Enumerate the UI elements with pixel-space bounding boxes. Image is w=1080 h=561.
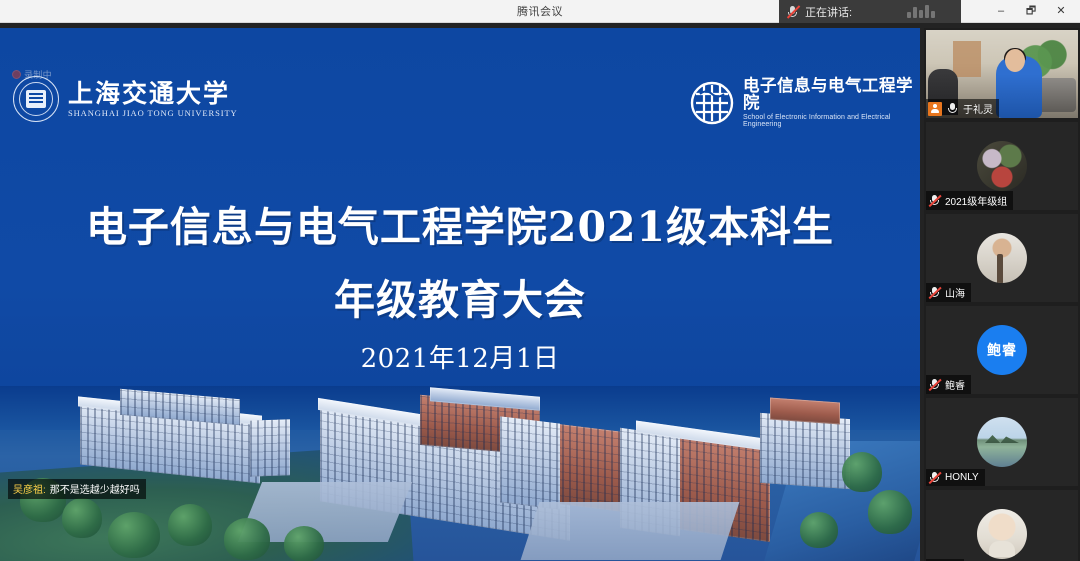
presentation-slide: 录制中 上海交通大学 SHANGHAI JIAO TONG UNIVERSITY [0, 28, 920, 561]
participant-tile[interactable]: 2021级年级组 [926, 122, 1078, 210]
window-controls: ‒ 🗗 ✕ [986, 0, 1076, 23]
live-caption: 吴彦祖: 那不是选越少越好吗 [8, 479, 146, 499]
participant-tile[interactable]: 于礼灵 [926, 30, 1078, 118]
participant-filmstrip[interactable]: 于礼灵 2021级年级组 [924, 28, 1080, 561]
audio-wave-icon [907, 5, 935, 18]
speaking-label: 正在讲话: [805, 4, 852, 20]
avatar [977, 141, 1027, 191]
participant-avatar-area [926, 490, 1078, 561]
participant-name: 山海 [945, 285, 965, 300]
avatar [977, 417, 1027, 467]
sjtu-name-en: SHANGHAI JIAO TONG UNIVERSITY [68, 108, 238, 118]
caption-speaker: 吴彦祖: [13, 481, 46, 496]
slide-title-line1: 电子信息与电气工程学院2021级本科生 [0, 193, 920, 253]
sjtu-seal-icon [13, 76, 59, 122]
avatar [977, 509, 1027, 559]
caption-text: 那不是选越少越好吗 [50, 481, 140, 496]
participant-tile[interactable]: 鲍睿 鲍睿 [926, 306, 1078, 394]
participant-nameplate: 山海 [926, 283, 971, 302]
slide-date: 2021年12月1日 [0, 338, 920, 375]
mic-muted-icon [786, 5, 799, 19]
tencent-meeting-window: 腾讯会议 正在讲话: ‒ 🗗 ✕ 录制中 [0, 0, 1080, 561]
participant-name: HONLY [945, 472, 979, 483]
participant-nameplate: 鲍睿 [926, 375, 971, 394]
avatar [977, 233, 1027, 283]
participant-name: 2021级年级组 [945, 193, 1007, 208]
seiee-mark-icon [690, 81, 734, 125]
maximize-button[interactable]: 🗗 [1016, 0, 1046, 23]
participant-nameplate: 2021级年级组 [926, 191, 1013, 210]
window-title: 腾讯会议 [517, 3, 563, 19]
seiee-name-cn: 电子信息与电气工程学院 [743, 78, 920, 111]
mic-muted-icon [928, 286, 941, 299]
seiee-logo: 电子信息与电气工程学院 School of Electronic Informa… [690, 78, 920, 128]
mic-muted-icon [928, 471, 941, 484]
speaking-indicator-overlay: 正在讲话: [779, 0, 961, 23]
sjtu-name-cn: 上海交通大学 [68, 81, 238, 106]
participant-name: 鲍睿 [945, 377, 965, 392]
participant-tile[interactable]: HONLY [926, 398, 1078, 486]
campus-photo [0, 386, 920, 561]
avatar: 鲍睿 [977, 325, 1027, 375]
seiee-name-en: School of Electronic Information and Ele… [743, 114, 920, 128]
sjtu-logo: 上海交通大学 SHANGHAI JIAO TONG UNIVERSITY [13, 76, 238, 122]
mic-on-icon [946, 102, 959, 115]
participant-nameplate: 于礼灵 [926, 99, 999, 118]
close-button[interactable]: ✕ [1046, 0, 1076, 23]
participant-tile[interactable]: 陈伟飞 [926, 490, 1078, 561]
participant-nameplate: HONLY [926, 469, 985, 486]
participant-tile[interactable]: 山海 [926, 214, 1078, 302]
participant-name: 于礼灵 [963, 101, 993, 116]
host-badge-icon [928, 102, 942, 116]
shared-screen-stage[interactable]: 录制中 上海交通大学 SHANGHAI JIAO TONG UNIVERSITY [0, 28, 920, 561]
slide-title-line2: 年级教育大会 [0, 266, 920, 326]
meeting-content: 录制中 上海交通大学 SHANGHAI JIAO TONG UNIVERSITY [0, 23, 1080, 561]
minimize-button[interactable]: ‒ [986, 0, 1016, 23]
mic-muted-icon [928, 378, 941, 391]
mic-muted-icon [928, 194, 941, 207]
